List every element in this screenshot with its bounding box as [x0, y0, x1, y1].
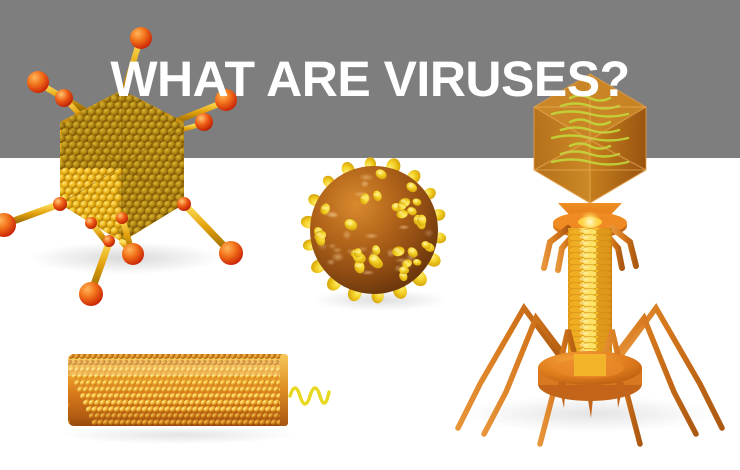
tmv-rna-strand: [290, 388, 329, 404]
tmv-figure: [58, 336, 338, 460]
tmv-end-cap: [280, 354, 288, 426]
page-title: WHAT ARE VIRUSES?: [0, 34, 740, 192]
virus-poster: WHAT ARE VIRUSES?: [0, 0, 740, 470]
tmv-svg: [58, 336, 338, 460]
tmv-rod: [58, 352, 293, 428]
tmv-shadow: [60, 426, 296, 444]
